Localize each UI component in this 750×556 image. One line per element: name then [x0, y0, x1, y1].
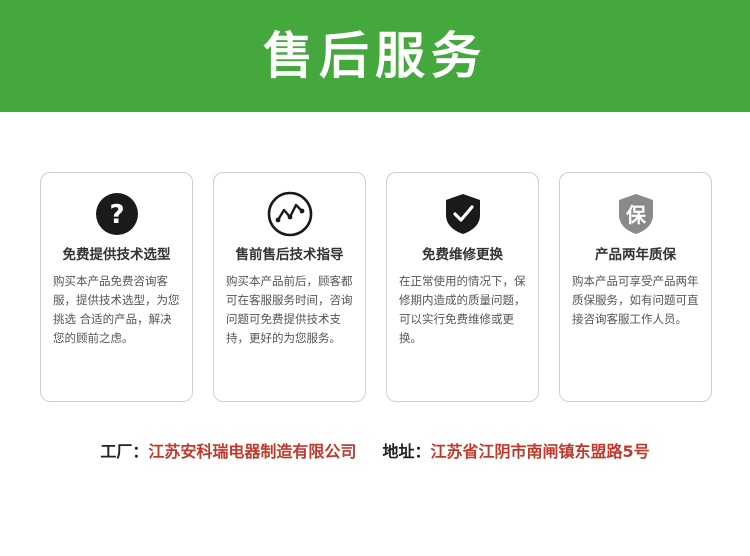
- footer-factory: 工厂： 江苏安科瑞电器制造有限公司: [100, 438, 356, 462]
- shield-bao-icon: 保: [613, 191, 659, 237]
- svg-text:保: 保: [625, 203, 647, 227]
- service-cards: ? 免费提供技术选型 购买本产品免费咨询客服，提供技术选型，为您挑选 合适的产品…: [40, 172, 712, 402]
- card-body: 在正常使用的情况下，保修期内造成的质量问题，可以实行免费维修或更换。: [399, 272, 526, 348]
- card-body: 购买本产品前后，顾客都可在客服服务时间，咨询问题可免费提供技术支持，更好的为您服…: [226, 272, 353, 348]
- service-card: 免费维修更换 在正常使用的情况下，保修期内造成的质量问题，可以实行免费维修或更换…: [386, 172, 539, 402]
- page-title: 售后服务: [263, 31, 487, 81]
- footer-address-value: 江苏省江阴市南闸镇东盟路5号: [430, 438, 649, 462]
- after-sales-service-page: 售后服务 ? 免费提供技术选型 购买本产品免费咨询客服，提供技术选型，为您挑选 …: [0, 0, 750, 556]
- header-band: 售后服务: [0, 0, 750, 112]
- footer-address-label: 地址：: [382, 438, 430, 462]
- footer-contact: 工厂： 江苏安科瑞电器制造有限公司 地址： 江苏省江阴市南闸镇东盟路5号: [0, 438, 750, 462]
- question-mark-circle-icon: ?: [94, 191, 140, 237]
- shield-check-icon: [440, 191, 486, 237]
- service-card: 售前售后技术指导 购买本产品前后，顾客都可在客服服务时间，咨询问题可免费提供技术…: [213, 172, 366, 402]
- footer-factory-label: 工厂：: [100, 438, 148, 462]
- card-title: 免费维修更换: [422, 247, 503, 264]
- service-card: ? 免费提供技术选型 购买本产品免费咨询客服，提供技术选型，为您挑选 合适的产品…: [40, 172, 193, 402]
- card-body: 购本产品可享受产品两年质保服务，如有问题可直接咨询客服工作人员。: [572, 272, 699, 329]
- svg-text:?: ?: [109, 200, 124, 230]
- footer-address: 地址： 江苏省江阴市南闸镇东盟路5号: [382, 438, 649, 462]
- card-title: 售前售后技术指导: [236, 247, 344, 264]
- chart-line-circle-icon: [267, 191, 313, 237]
- footer-factory-value: 江苏安科瑞电器制造有限公司: [148, 438, 356, 462]
- card-body: 购买本产品免费咨询客服，提供技术选型，为您挑选 合适的产品，解决您的顾前之虑。: [53, 272, 180, 348]
- card-title: 免费提供技术选型: [63, 247, 171, 264]
- service-card: 保 产品两年质保 购本产品可享受产品两年质保服务，如有问题可直接咨询客服工作人员…: [559, 172, 712, 402]
- card-title: 产品两年质保: [595, 247, 676, 264]
